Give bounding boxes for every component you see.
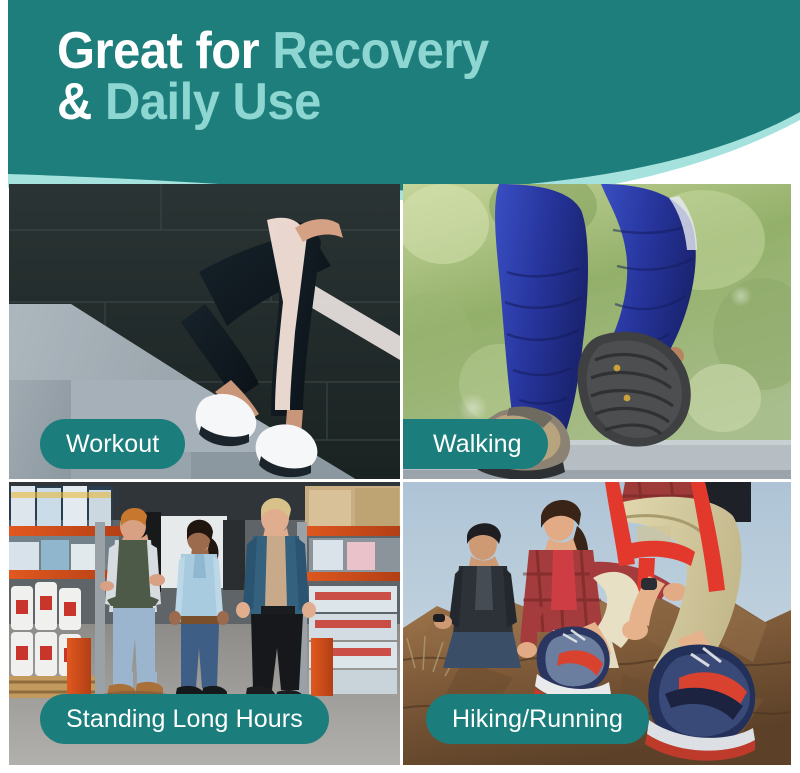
label-pill-standing[interactable]: Standing Long Hours bbox=[40, 694, 329, 744]
rack-right bbox=[297, 486, 400, 698]
headline-text-recovery: Recovery bbox=[272, 22, 488, 80]
use-case-grid: Workout bbox=[9, 184, 791, 765]
promo-poster: Great for Recovery & Daily Use bbox=[0, 0, 800, 773]
headline-line-1: Great for Recovery bbox=[57, 26, 659, 77]
headline-text-great-for: Great for bbox=[57, 22, 259, 80]
panel-hiking[interactable]: Hiking/Running bbox=[403, 482, 791, 765]
label-pill-walking[interactable]: Walking bbox=[403, 419, 548, 469]
headline-line-2: & Daily Use bbox=[57, 77, 659, 128]
header-banner: Great for Recovery & Daily Use bbox=[0, 0, 800, 200]
label-pill-hiking[interactable]: Hiking/Running bbox=[426, 694, 649, 744]
label-pill-standing-text: Standing Long Hours bbox=[66, 705, 303, 734]
label-pill-workout-text: Workout bbox=[66, 430, 159, 459]
panel-workout[interactable]: Workout bbox=[9, 184, 400, 479]
headline-text-ampersand: & bbox=[57, 73, 92, 131]
headline-text-daily-use: Daily Use bbox=[105, 73, 321, 131]
hiking-boot-front bbox=[645, 645, 755, 761]
label-pill-walking-text: Walking bbox=[433, 430, 522, 459]
panel-standing[interactable]: Standing Long Hours bbox=[9, 482, 400, 765]
label-pill-hiking-text: Hiking/Running bbox=[452, 705, 623, 734]
label-pill-workout[interactable]: Workout bbox=[40, 419, 185, 469]
page-headline: Great for Recovery & Daily Use bbox=[57, 26, 659, 128]
panel-walking[interactable]: Walking bbox=[403, 184, 791, 479]
